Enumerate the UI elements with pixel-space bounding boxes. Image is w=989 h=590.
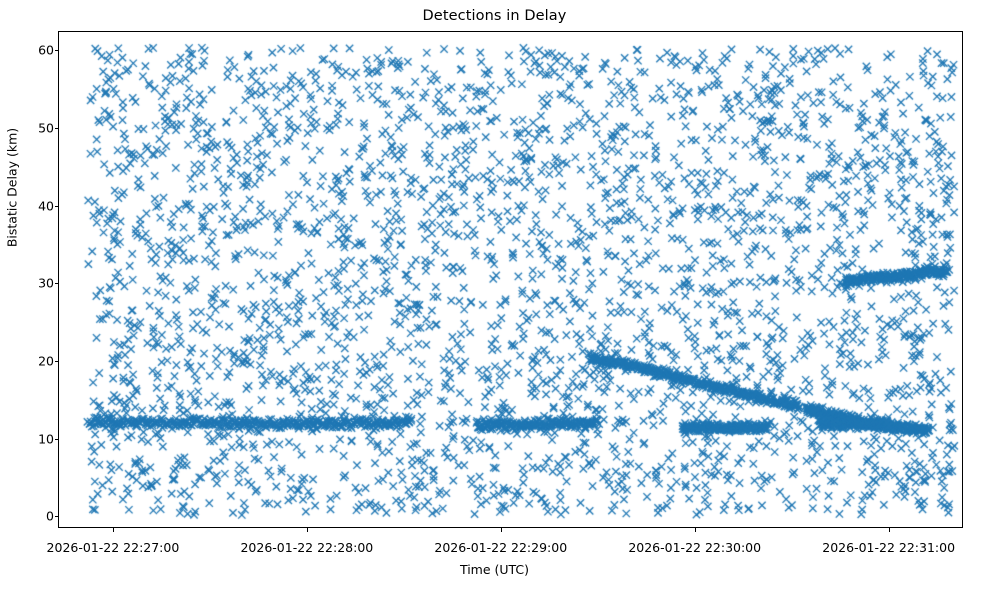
y-tick-label: 0 — [8, 509, 54, 524]
y-tick-label: 10 — [8, 431, 54, 446]
x-tick-mark — [307, 528, 308, 532]
x-axis-label: Time (UTC) — [0, 562, 989, 577]
y-tick-label: 60 — [8, 43, 54, 58]
x-tick-label: 2026-01-22 22:28:00 — [207, 540, 407, 555]
matplotlib-figure: Detections in Delay 0102030405060 2026-0… — [0, 0, 989, 590]
x-tick-mark — [695, 528, 696, 532]
page-title: Detections in Delay — [0, 8, 989, 24]
x-tick-mark — [501, 528, 502, 532]
y-axis-label-wrap: Bistatic Delay (km) — [0, 180, 200, 380]
x-tick-mark — [889, 528, 890, 532]
x-tick-mark — [113, 528, 114, 532]
y-axis-label: Bistatic Delay (km) — [5, 88, 20, 288]
x-tick-label: 2026-01-22 22:29:00 — [401, 540, 601, 555]
x-axis-tick-labels: 2026-01-22 22:27:002026-01-22 22:28:0020… — [0, 534, 989, 554]
x-tick-label: 2026-01-22 22:27:00 — [13, 540, 213, 555]
x-tick-label: 2026-01-22 22:30:00 — [595, 540, 795, 555]
x-tick-label: 2026-01-22 22:31:00 — [789, 540, 989, 555]
